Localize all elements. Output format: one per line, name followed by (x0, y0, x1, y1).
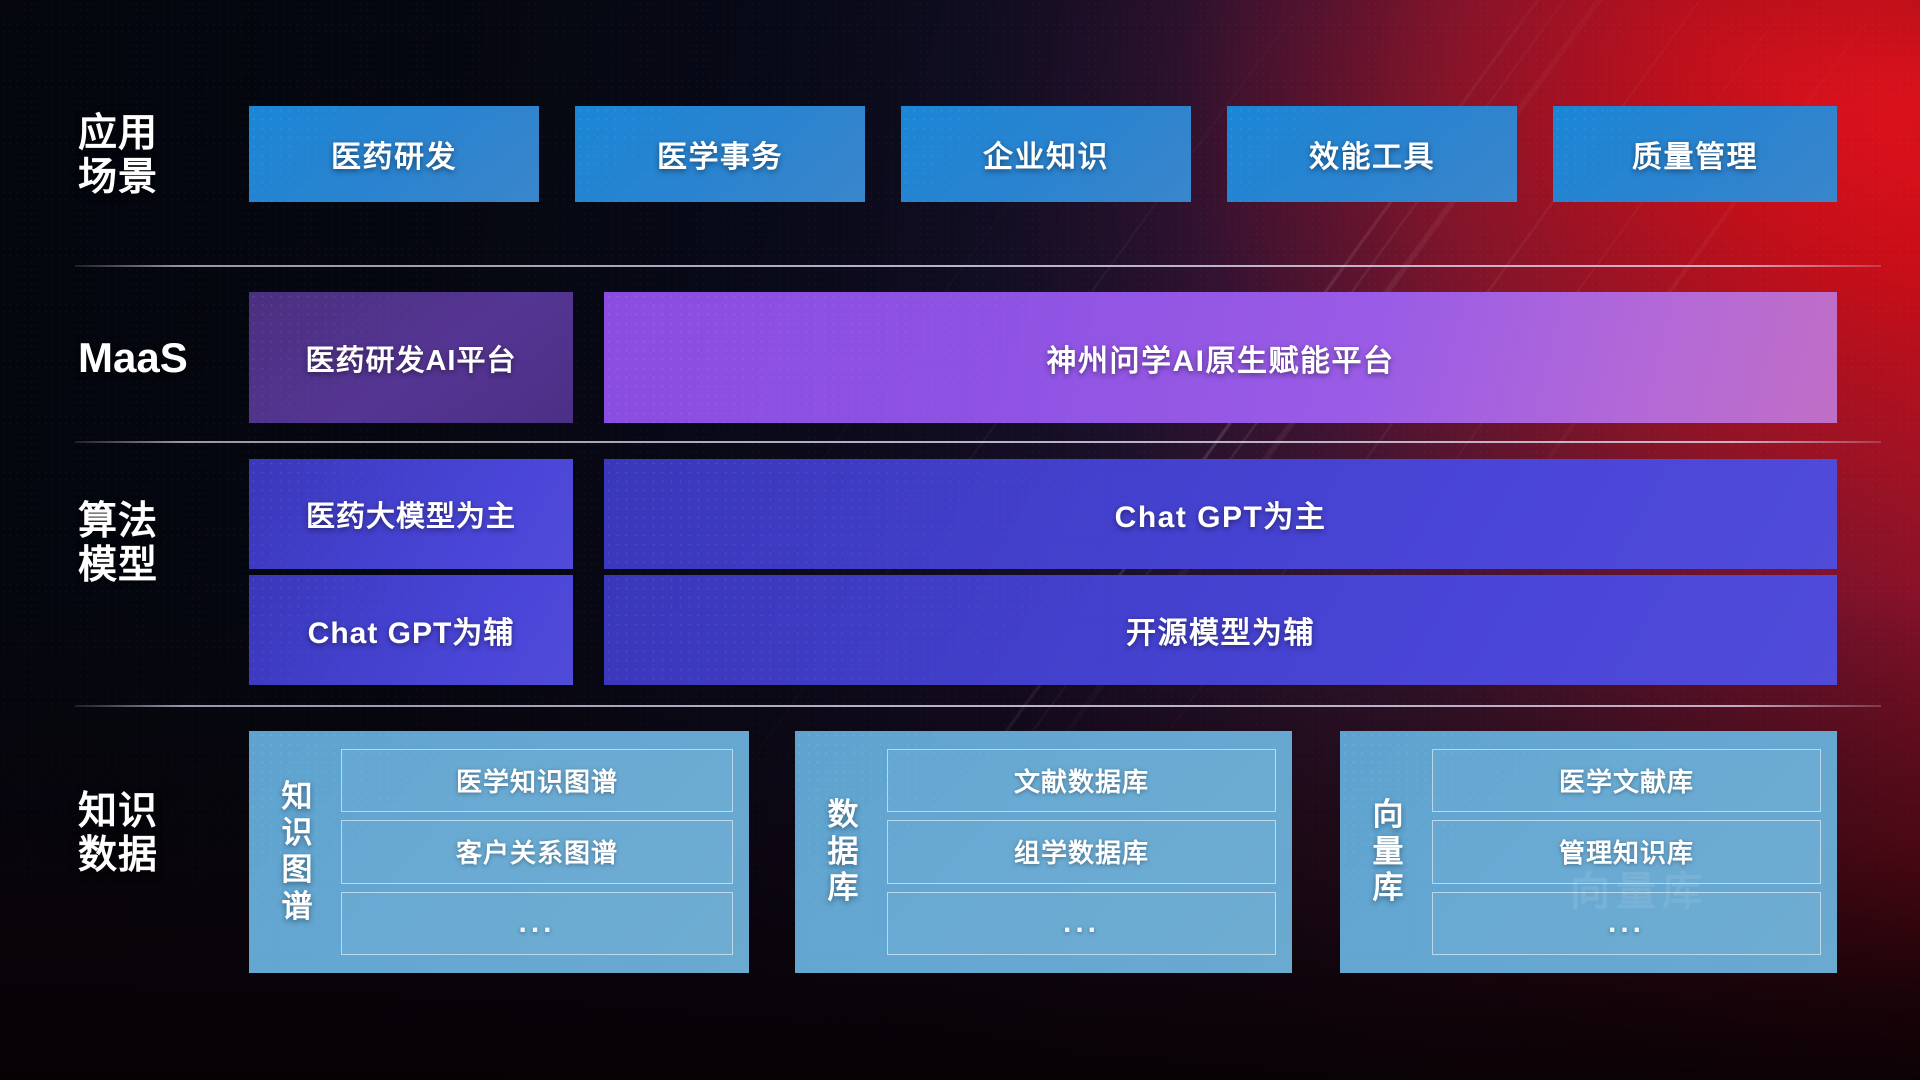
row-label-algorithm-models: 算法 模型 (78, 500, 238, 587)
knowledge-item[interactable]: 组学数据库 (887, 820, 1276, 883)
row-label-line2: 数据 (78, 834, 238, 878)
app-card-4[interactable]: 质量管理 (1553, 106, 1837, 202)
row-label-line1: 知识 (78, 790, 238, 834)
app-card-1[interactable]: 医学事务 (575, 106, 865, 202)
app-card-label: 质量管理 (1632, 132, 1758, 176)
knowledge-group-vector[interactable]: 向量库 向量库 医学文献库 管理知识库 ... (1340, 731, 1837, 973)
model-card-chatgpt-secondary[interactable]: Chat GPT为辅 (249, 575, 573, 685)
knowledge-item[interactable]: 管理知识库 (1432, 820, 1821, 883)
row-label-text: MaaS (78, 334, 238, 381)
knowledge-group-database[interactable]: 数据库 文献数据库 组学数据库 ... (795, 731, 1292, 973)
architecture-diagram: 应用 场景 医药研发 医学事务 企业知识 效能工具 质量管理 MaaS 医药研发… (0, 0, 1920, 1080)
knowledge-group-title: 知识图谱 (271, 779, 323, 925)
knowledge-item-more[interactable]: ... (341, 892, 733, 955)
app-card-label: 效能工具 (1309, 132, 1435, 176)
model-card-label: 开源模型为辅 (1126, 608, 1315, 652)
knowledge-group-items: 医学知识图谱 客户关系图谱 ... (341, 745, 733, 959)
app-card-3[interactable]: 效能工具 (1227, 106, 1517, 202)
app-card-2[interactable]: 企业知识 (901, 106, 1191, 202)
divider-2 (75, 441, 1881, 443)
maas-card-platform[interactable]: 医药研发AI平台 (249, 292, 573, 423)
row-label-line1: 应用 (78, 112, 238, 156)
knowledge-group-title: 数据库 (817, 797, 869, 907)
knowledge-item-more[interactable]: ... (1432, 892, 1821, 955)
app-card-label: 医药研发 (331, 132, 457, 176)
row-label-line1: 算法 (78, 500, 238, 544)
row-label-application-scenarios: 应用 场景 (78, 112, 238, 199)
knowledge-group-graph[interactable]: 知识图谱 医学知识图谱 客户关系图谱 ... (249, 731, 749, 973)
knowledge-item-more[interactable]: ... (887, 892, 1276, 955)
divider-3 (75, 705, 1881, 707)
knowledge-group-title: 向量库 (1362, 797, 1414, 907)
row-label-line2: 场景 (78, 156, 238, 200)
knowledge-item[interactable]: 文献数据库 (887, 749, 1276, 812)
app-card-0[interactable]: 医药研发 (249, 106, 539, 202)
knowledge-group-items: 文献数据库 组学数据库 ... (887, 745, 1276, 959)
row-label-maas: MaaS (78, 334, 238, 381)
row-label-knowledge-data: 知识 数据 (78, 790, 238, 877)
knowledge-item[interactable]: 客户关系图谱 (341, 820, 733, 883)
maas-card-label: 医药研发AI平台 (305, 337, 516, 379)
maas-card-label: 神州问学AI原生赋能平台 (1047, 336, 1395, 380)
app-card-label: 医学事务 (657, 132, 783, 176)
knowledge-group-items: 医学文献库 管理知识库 ... (1432, 745, 1821, 959)
knowledge-item[interactable]: 医学文献库 (1432, 749, 1821, 812)
model-card-label: Chat GPT为辅 (308, 608, 515, 652)
knowledge-item[interactable]: 医学知识图谱 (341, 749, 733, 812)
model-card-chatgpt-primary[interactable]: Chat GPT为主 (604, 459, 1837, 569)
app-card-label: 企业知识 (983, 132, 1109, 176)
model-card-pharma-primary[interactable]: 医药大模型为主 (249, 459, 573, 569)
model-card-label: Chat GPT为主 (1115, 492, 1327, 536)
row-label-line2: 模型 (78, 544, 238, 588)
maas-card-native-platform[interactable]: 神州问学AI原生赋能平台 (604, 292, 1837, 423)
divider-1 (75, 265, 1881, 267)
model-card-label: 医药大模型为主 (306, 493, 516, 535)
model-card-opensource-secondary[interactable]: 开源模型为辅 (604, 575, 1837, 685)
